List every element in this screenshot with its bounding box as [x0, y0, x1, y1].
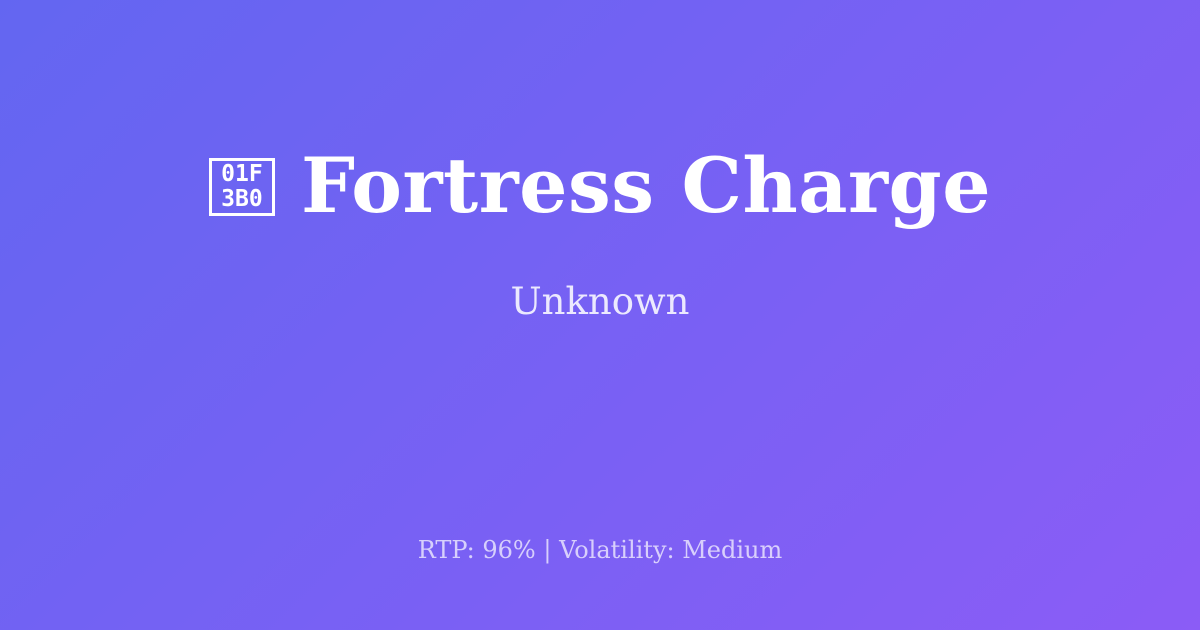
slot-machine-emoji-tofu-icon: 01F 3B0 [209, 158, 275, 216]
page-title: Fortress Charge [301, 148, 991, 224]
tofu-codepoint-lower: 3B0 [221, 187, 263, 212]
game-meta-line: RTP: 96% | Volatility: Medium [0, 536, 1200, 564]
hero-block: 01F 3B0 Fortress Charge Unknown [0, 0, 1200, 470]
page-subtitle: Unknown [510, 280, 689, 323]
og-preview-card: 01F 3B0 Fortress Charge Unknown RTP: 96%… [0, 0, 1200, 630]
tofu-codepoint-upper: 01F [221, 162, 263, 187]
title-row: 01F 3B0 Fortress Charge [209, 148, 991, 224]
